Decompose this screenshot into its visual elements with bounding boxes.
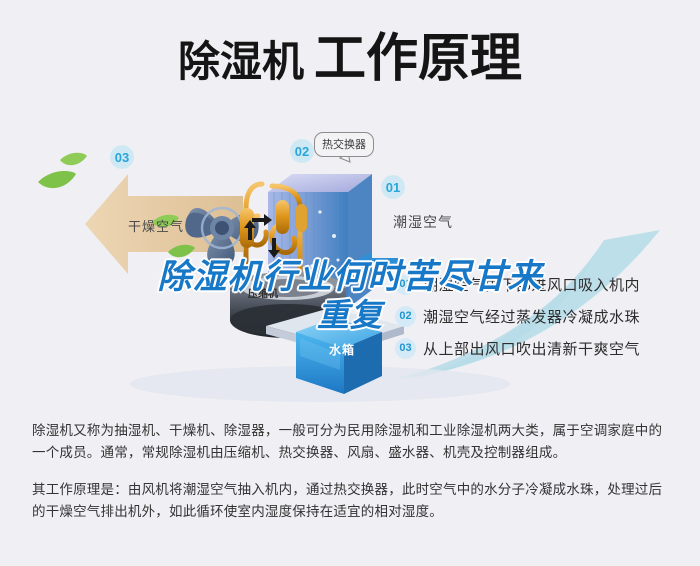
step-number: 02 — [395, 306, 416, 327]
step-description: 潮湿空气由下部进风口吸入机内 — [423, 274, 640, 295]
dry-air-label: 干燥空气 — [128, 216, 184, 235]
step-list: 01 潮湿空气由下部进风口吸入机内 02 潮湿空气经过蒸发器冷凝成水珠 03 从… — [395, 268, 695, 364]
list-item: 03 从上部出风口吹出清新干爽空气 — [395, 332, 695, 364]
compressor-label: 压缩机 — [248, 285, 278, 300]
title-part-small: 除湿机 — [178, 41, 304, 83]
step-description: 潮湿空气经过蒸发器冷凝成水珠 — [423, 306, 640, 327]
body-copy: 除湿机又称为抽湿机、干燥机、除湿器，一般可分为民用除湿机和工业除湿机两大类，属于… — [32, 420, 672, 523]
diagram-marker-02: 02 — [290, 139, 314, 163]
diagram-marker-03: 03 — [110, 145, 134, 169]
step-number: 01 — [395, 274, 416, 295]
heat-exchanger-label: 热交换器 — [322, 139, 366, 151]
heat-exchanger-callout: 热交换器 — [314, 132, 374, 157]
infographic-page: 除湿机 工作原理 — [0, 0, 700, 566]
step-number: 03 — [395, 338, 416, 359]
list-item: 02 潮湿空气经过蒸发器冷凝成水珠 — [395, 300, 695, 332]
step-description: 从上部出风口吹出清新干爽空气 — [423, 338, 640, 359]
list-item: 01 潮湿空气由下部进风口吸入机内 — [395, 268, 695, 300]
title-part-large: 工作原理 — [314, 33, 522, 85]
dehumidifier-diagram: 03 02 01 热交换器 干燥空气 潮湿空气 压缩机 水箱 — [0, 112, 700, 412]
moist-air-label: 潮湿空气 — [393, 212, 453, 232]
diagram-marker-01: 01 — [381, 175, 405, 199]
page-title: 除湿机 工作原理 — [0, 0, 700, 118]
water-tank-label: 水箱 — [329, 341, 355, 358]
paragraph-principle: 其工作原理是：由风机将潮湿空气抽入机内，通过热交换器，此时空气中的水分子冷凝成水… — [32, 479, 672, 523]
paragraph-intro: 除湿机又称为抽湿机、干燥机、除湿器，一般可分为民用除湿机和工业除湿机两大类，属于… — [32, 420, 672, 464]
diagram-artwork — [0, 112, 700, 412]
